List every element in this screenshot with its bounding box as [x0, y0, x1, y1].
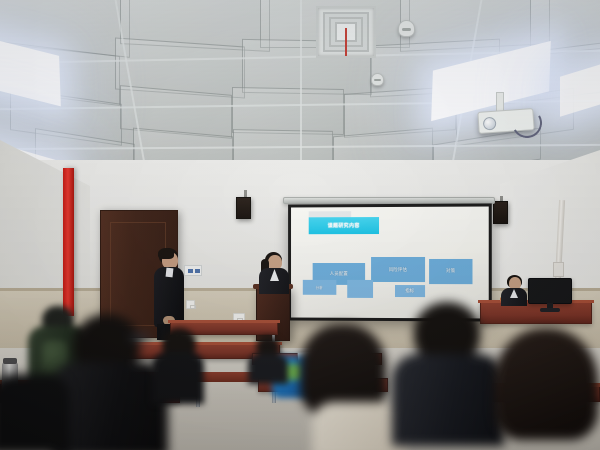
audience-member	[248, 336, 288, 382]
eyeglasses-icon	[130, 334, 150, 341]
slide-box: 对策	[429, 259, 473, 284]
audience-member	[152, 328, 204, 402]
torso	[248, 354, 288, 384]
podium-speaker	[259, 252, 289, 292]
hair-front	[158, 248, 174, 259]
conduit-junction-box	[553, 262, 564, 277]
audience-member	[0, 374, 70, 450]
head	[414, 302, 480, 362]
slide-title-banner: 课题研究内容	[309, 217, 380, 234]
slide-box: 风险评估	[371, 257, 424, 283]
wall-speaker	[493, 201, 508, 224]
vent-marker-line	[345, 28, 347, 56]
projector-lens-icon	[483, 117, 497, 131]
wall-plaque	[184, 265, 202, 276]
wall-speaker	[236, 197, 251, 219]
classroom-photo: 课题研究内容 人员配置 风险评估 对策 指标 分析	[0, 0, 600, 450]
torso	[152, 352, 204, 404]
smoke-detector-icon	[371, 73, 384, 86]
audience-member	[288, 324, 406, 450]
hair	[494, 328, 598, 440]
audience-foreground	[0, 288, 600, 450]
audience-member	[488, 328, 600, 450]
shirt-collar	[166, 268, 174, 278]
smoke-detector-icon	[398, 20, 415, 37]
